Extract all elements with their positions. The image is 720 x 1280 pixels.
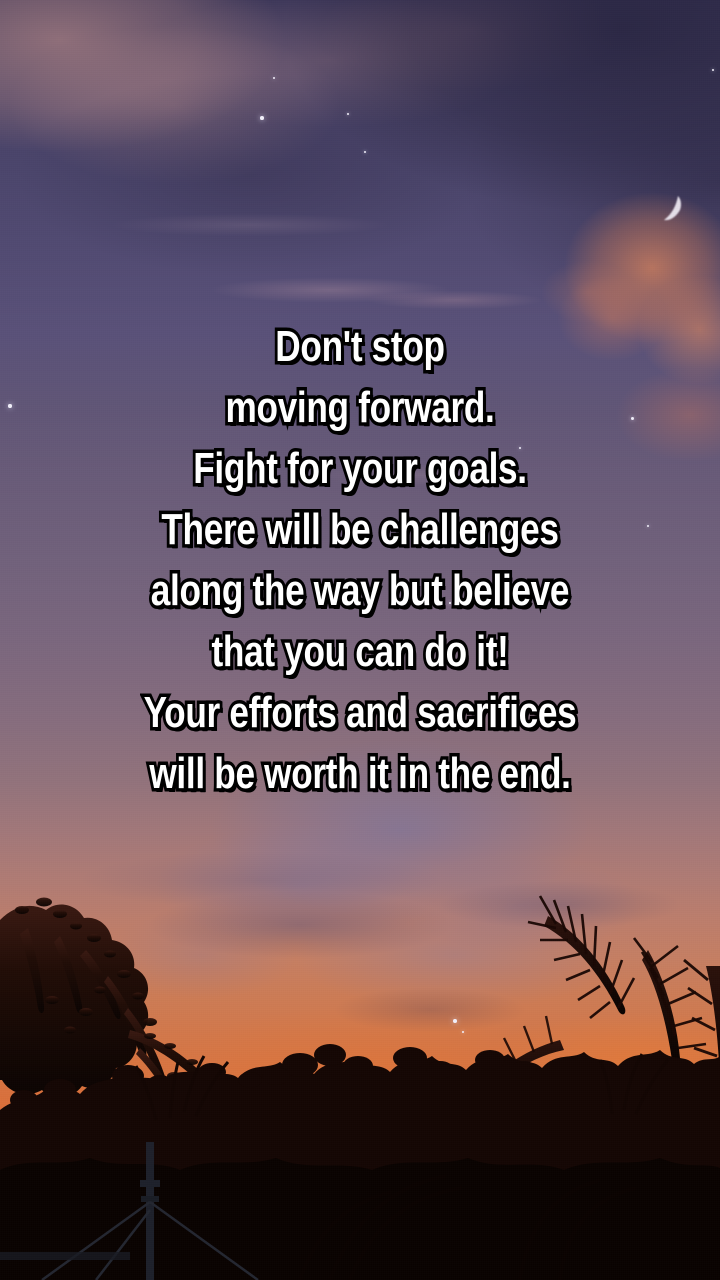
quote-line-6: that you can do it! <box>80 621 640 682</box>
quote-line-5: along the way but believe <box>80 560 640 621</box>
quote-text-block: Don't stop moving forward. Fight for you… <box>0 316 720 804</box>
quote-line-7: Your efforts and sacrifices <box>80 682 640 743</box>
quote-poster: Don't stop moving forward. Fight for you… <box>0 0 720 1280</box>
quote-line-8: will be worth it in the end. <box>80 743 640 804</box>
quote-line-2: moving forward. <box>80 377 640 438</box>
quote-line-1: Don't stop <box>80 316 640 377</box>
quote-line-3: Fight for your goals. <box>80 438 640 499</box>
quote-line-4: There will be challenges <box>80 499 640 560</box>
